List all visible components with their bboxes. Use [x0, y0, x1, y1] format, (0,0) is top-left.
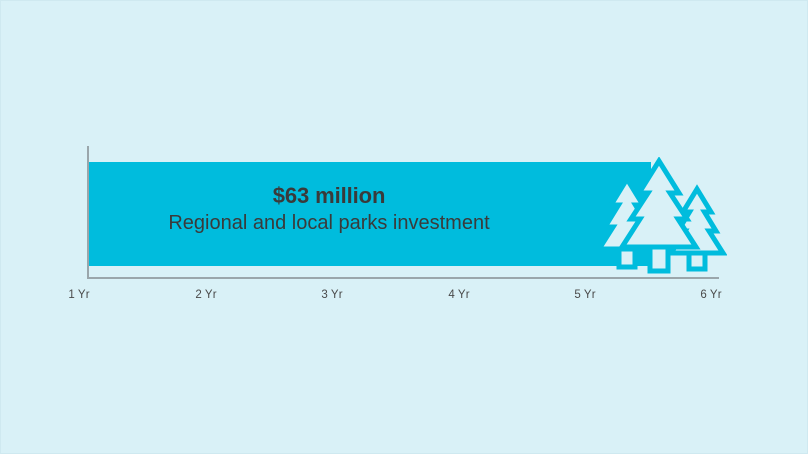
x-tick-label-1: 1 Yr: [68, 289, 89, 301]
infographic-canvas: $63 million Regional and local parks inv…: [0, 0, 808, 454]
x-tick-label-6: 6 Yr: [700, 289, 721, 301]
bar-description-label: Regional and local parks investment: [89, 212, 569, 236]
x-tick-label-4: 4 Yr: [448, 289, 469, 301]
bar-label-group: $63 million Regional and local parks inv…: [89, 183, 569, 236]
x-tick-label-2: 2 Yr: [195, 289, 216, 301]
bar-value-label: $63 million: [89, 183, 569, 209]
x-tick-label-3: 3 Yr: [321, 289, 342, 301]
bar-chart-plot: $63 million Regional and local parks inv…: [1, 1, 808, 454]
x-tick-label-5: 5 Yr: [574, 289, 595, 301]
trees-icon: [597, 157, 727, 279]
